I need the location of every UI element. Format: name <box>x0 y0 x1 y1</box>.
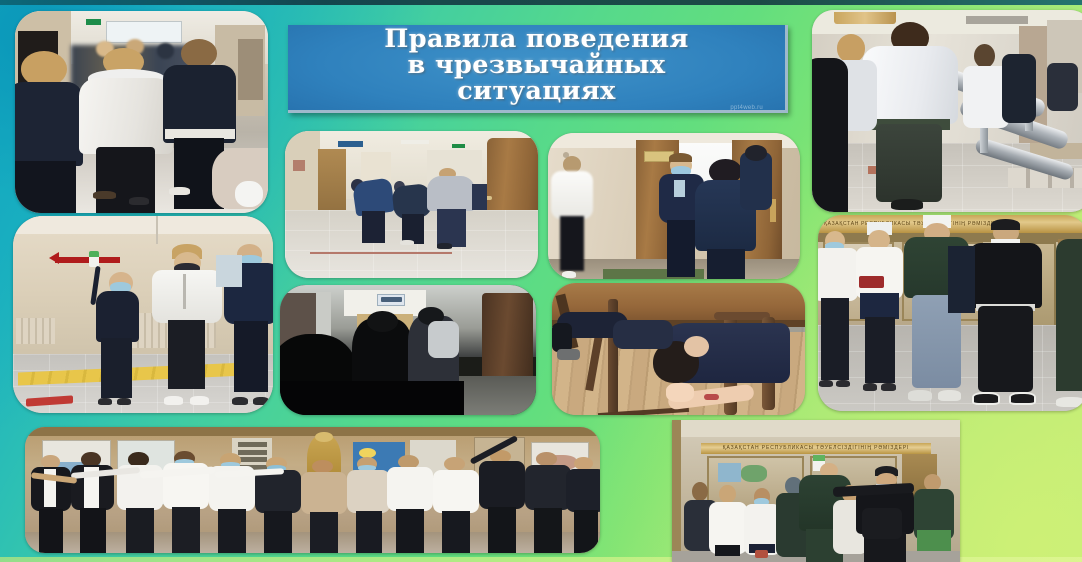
title-banner: Правила поведения в чрезвычайных ситуаци… <box>288 25 788 113</box>
photo-dark-corridor-queue: Dark silhouettes of students queuing in … <box>280 285 536 415</box>
photo-corridor-evacuation: Students walking down a school corridor … <box>15 11 268 213</box>
title-line-2: в чрезвычайных <box>408 52 666 78</box>
title-watermark: ppt4web.ru <box>730 105 763 111</box>
photo-group-line-corridor: Wide shot of a long line of students wit… <box>25 427 600 553</box>
photo-classroom-doorway: Teacher and student exiting through a cl… <box>548 133 800 279</box>
photo-stairwell-descent: Students descending a stairwell holding … <box>812 10 1082 212</box>
photo-museum-group-wide: ҚАЗАҚСТАН РЕСПУБЛИКАСЫ ТӘУЕЛСІЗДІГІНІҢ Р… <box>672 420 960 562</box>
title-line-1: Правила поведения <box>384 26 689 52</box>
title-line-3: ситуациях <box>457 78 615 104</box>
photo-corridor-duck-cover: Students crouching while moving through … <box>285 131 538 278</box>
photo-under-desk-shelter: Student sheltering on the floor under a … <box>552 283 805 415</box>
museum-signboard-text-2: ҚАЗАҚСТАН РЕСПУБЛИКАСЫ ТӘУЕЛСІЗДІГІНІҢ Р… <box>723 445 910 451</box>
poster-collage: Students walking down a school corridor … <box>0 0 1082 562</box>
top-edge-strip <box>0 0 1082 5</box>
photo-museum-hands-on-head: ҚАЗАҚСТАН РЕСПУБЛИКАСЫ ТӘУЕЛСІЗДІГІНІҢ Р… <box>818 215 1082 411</box>
photo-hallway-signal: Student raising a green cup signal in a … <box>13 216 273 413</box>
